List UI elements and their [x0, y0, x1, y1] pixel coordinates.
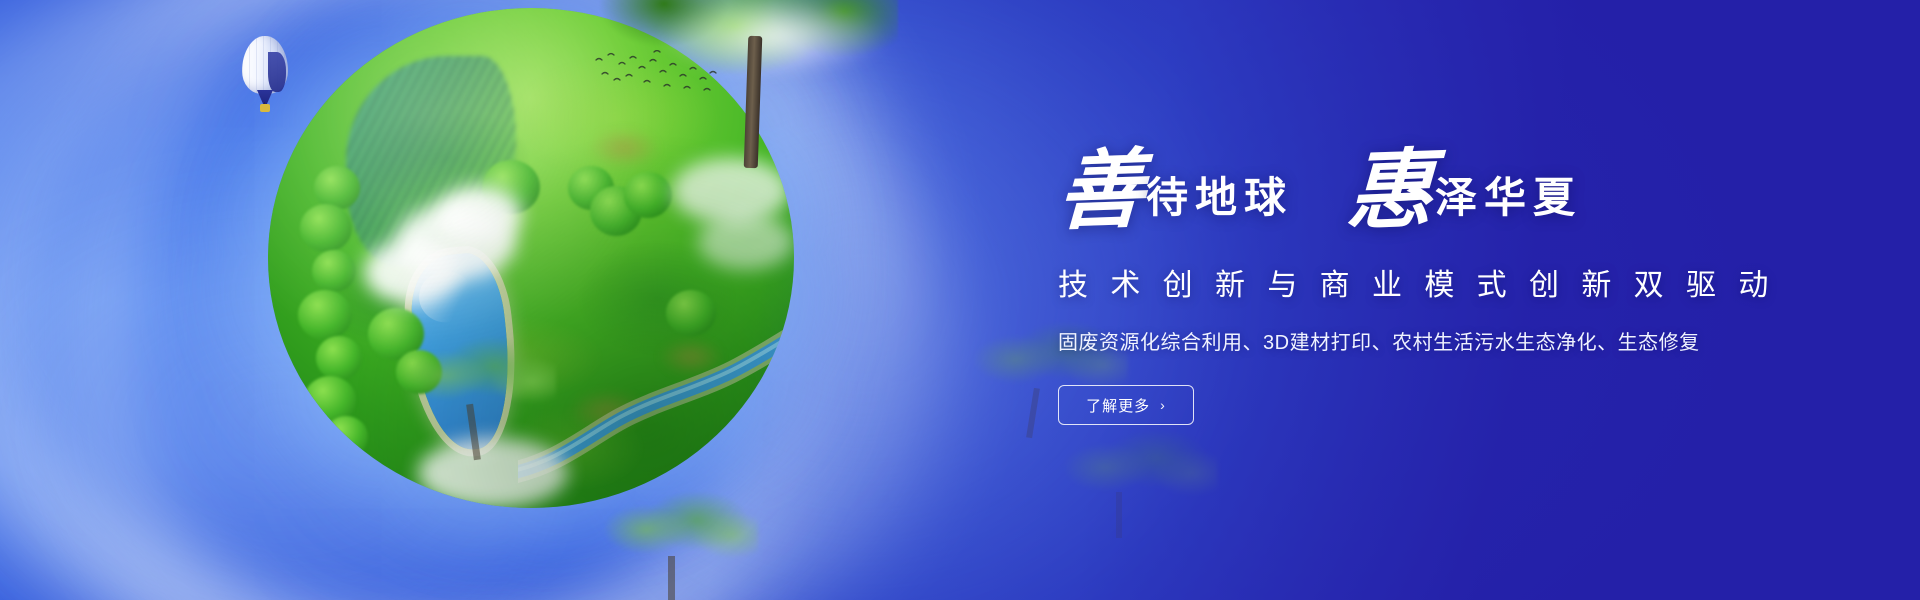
hero-banner: 善 待地球 惠 泽华夏 技 术 创 新 与 商 业 模 式 创 新 双 驱 动 … [0, 0, 1920, 600]
headline-lead-1: 善 [1056, 147, 1145, 236]
learn-more-button[interactable]: 了解更多 › [1058, 385, 1194, 425]
headline-rest-2: 泽华夏 [1435, 178, 1582, 220]
description: 固废资源化综合利用、3D建材打印、农村生活污水生态净化、生态修复 [1058, 326, 1758, 355]
headline-lead-2: 惠 [1345, 147, 1434, 236]
chevron-right-icon: › [1160, 397, 1166, 413]
headline-rest-1: 待地球 [1146, 178, 1293, 220]
page-title: 善 待地球 惠 泽华夏 [1058, 148, 1758, 234]
hero-content: 善 待地球 惠 泽华夏 技 术 创 新 与 商 业 模 式 创 新 双 驱 动 … [1058, 148, 1758, 425]
learn-more-label: 了解更多 [1086, 395, 1150, 416]
subtitle: 技 术 创 新 与 商 业 模 式 创 新 双 驱 动 [1058, 260, 1758, 304]
